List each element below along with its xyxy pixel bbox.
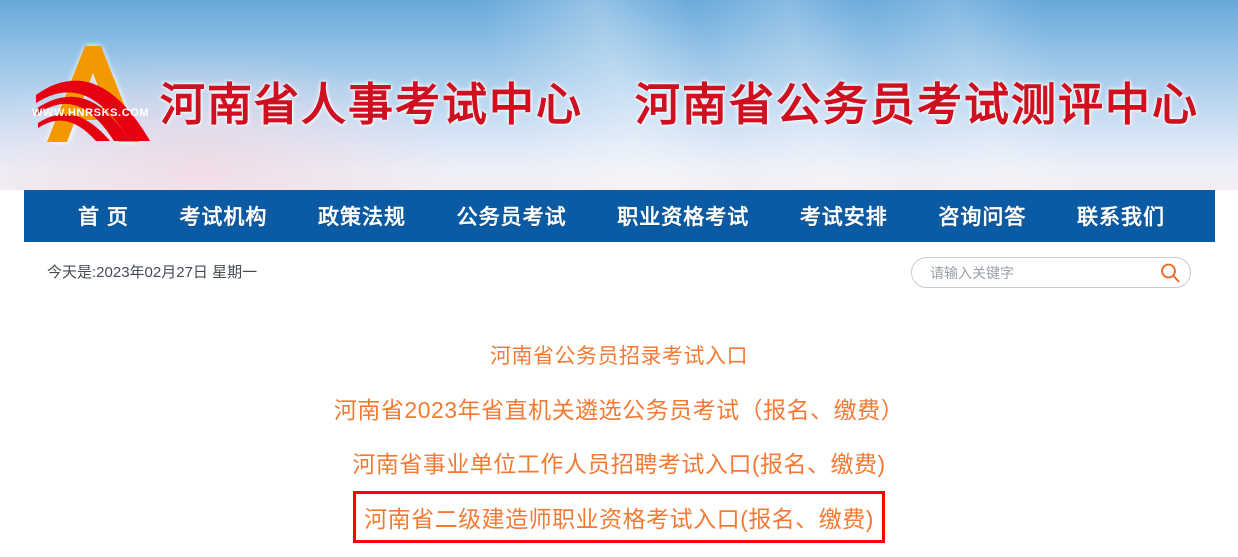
link-2023-provincial-selection-exam[interactable]: 河南省2023年省直机关遴选公务员考试（报名、缴费） xyxy=(334,397,904,423)
today-date-label: 今天是:2023年02月27日 星期一 xyxy=(47,261,257,282)
search-icon xyxy=(1159,262,1181,284)
nav-item-schedule[interactable]: 考试安排 xyxy=(796,201,892,231)
entry-link-list: 河南省公务员招录考试入口 河南省2023年省直机关遴选公务员考试（报名、缴费） … xyxy=(0,304,1238,557)
site-title-right: 河南省公务员考试测评中心 xyxy=(635,68,1199,133)
search-box[interactable] xyxy=(911,257,1191,288)
site-header-banner: WWW.HNRSKS.COM 河南省人事考试中心 河南省公务员考试测评中心 xyxy=(0,0,1238,190)
site-title-left: 河南省人事考试中心 xyxy=(160,68,583,133)
link-level2-constructor-exam-entry[interactable]: 河南省二级建造师职业资格考试入口(报名、缴费) xyxy=(364,506,874,532)
link-civil-servant-recruitment-entry[interactable]: 河南省公务员招录考试入口 xyxy=(490,345,748,368)
nav-item-contact[interactable]: 联系我们 xyxy=(1073,201,1169,231)
list-item: 河南省2023年省直机关遴选公务员考试（报名、缴费） xyxy=(0,391,1238,425)
main-navigation: 首 页 考试机构 政策法规 公务员考试 职业资格考试 考试安排 咨询问答 联系我… xyxy=(24,190,1215,242)
list-item: 河南省事业单位工作人员招聘考试入口(报名、缴费) xyxy=(0,445,1238,479)
nav-item-faq[interactable]: 咨询问答 xyxy=(934,201,1030,231)
nav-item-home[interactable]: 首 页 xyxy=(74,201,133,231)
logo-url-text: WWW.HNRSKS.COM xyxy=(32,107,149,119)
site-title-row: 河南省人事考试中心 河南省公务员考试测评中心 xyxy=(160,60,1220,140)
hnrsks-a-logo-icon: WWW.HNRSKS.COM xyxy=(26,33,176,155)
search-input[interactable] xyxy=(912,258,1150,287)
list-item: 河南省公务员招录考试入口 xyxy=(0,340,1238,370)
nav-item-policies[interactable]: 政策法规 xyxy=(314,201,410,231)
nav-item-vocational[interactable]: 职业资格考试 xyxy=(613,201,753,231)
list-item: 河南省二级建造师职业资格考试入口(报名、缴费) xyxy=(0,500,1238,534)
search-button[interactable] xyxy=(1150,258,1190,287)
link-public-institution-recruitment-entry[interactable]: 河南省事业单位工作人员招聘考试入口(报名、缴费) xyxy=(352,451,885,477)
page-root: WWW.HNRSKS.COM 河南省人事考试中心 河南省公务员考试测评中心 首 … xyxy=(0,0,1238,557)
nav-item-exam-orgs[interactable]: 考试机构 xyxy=(175,201,271,231)
site-logo[interactable]: WWW.HNRSKS.COM xyxy=(26,33,176,155)
nav-item-civil-exam[interactable]: 公务员考试 xyxy=(453,201,571,231)
